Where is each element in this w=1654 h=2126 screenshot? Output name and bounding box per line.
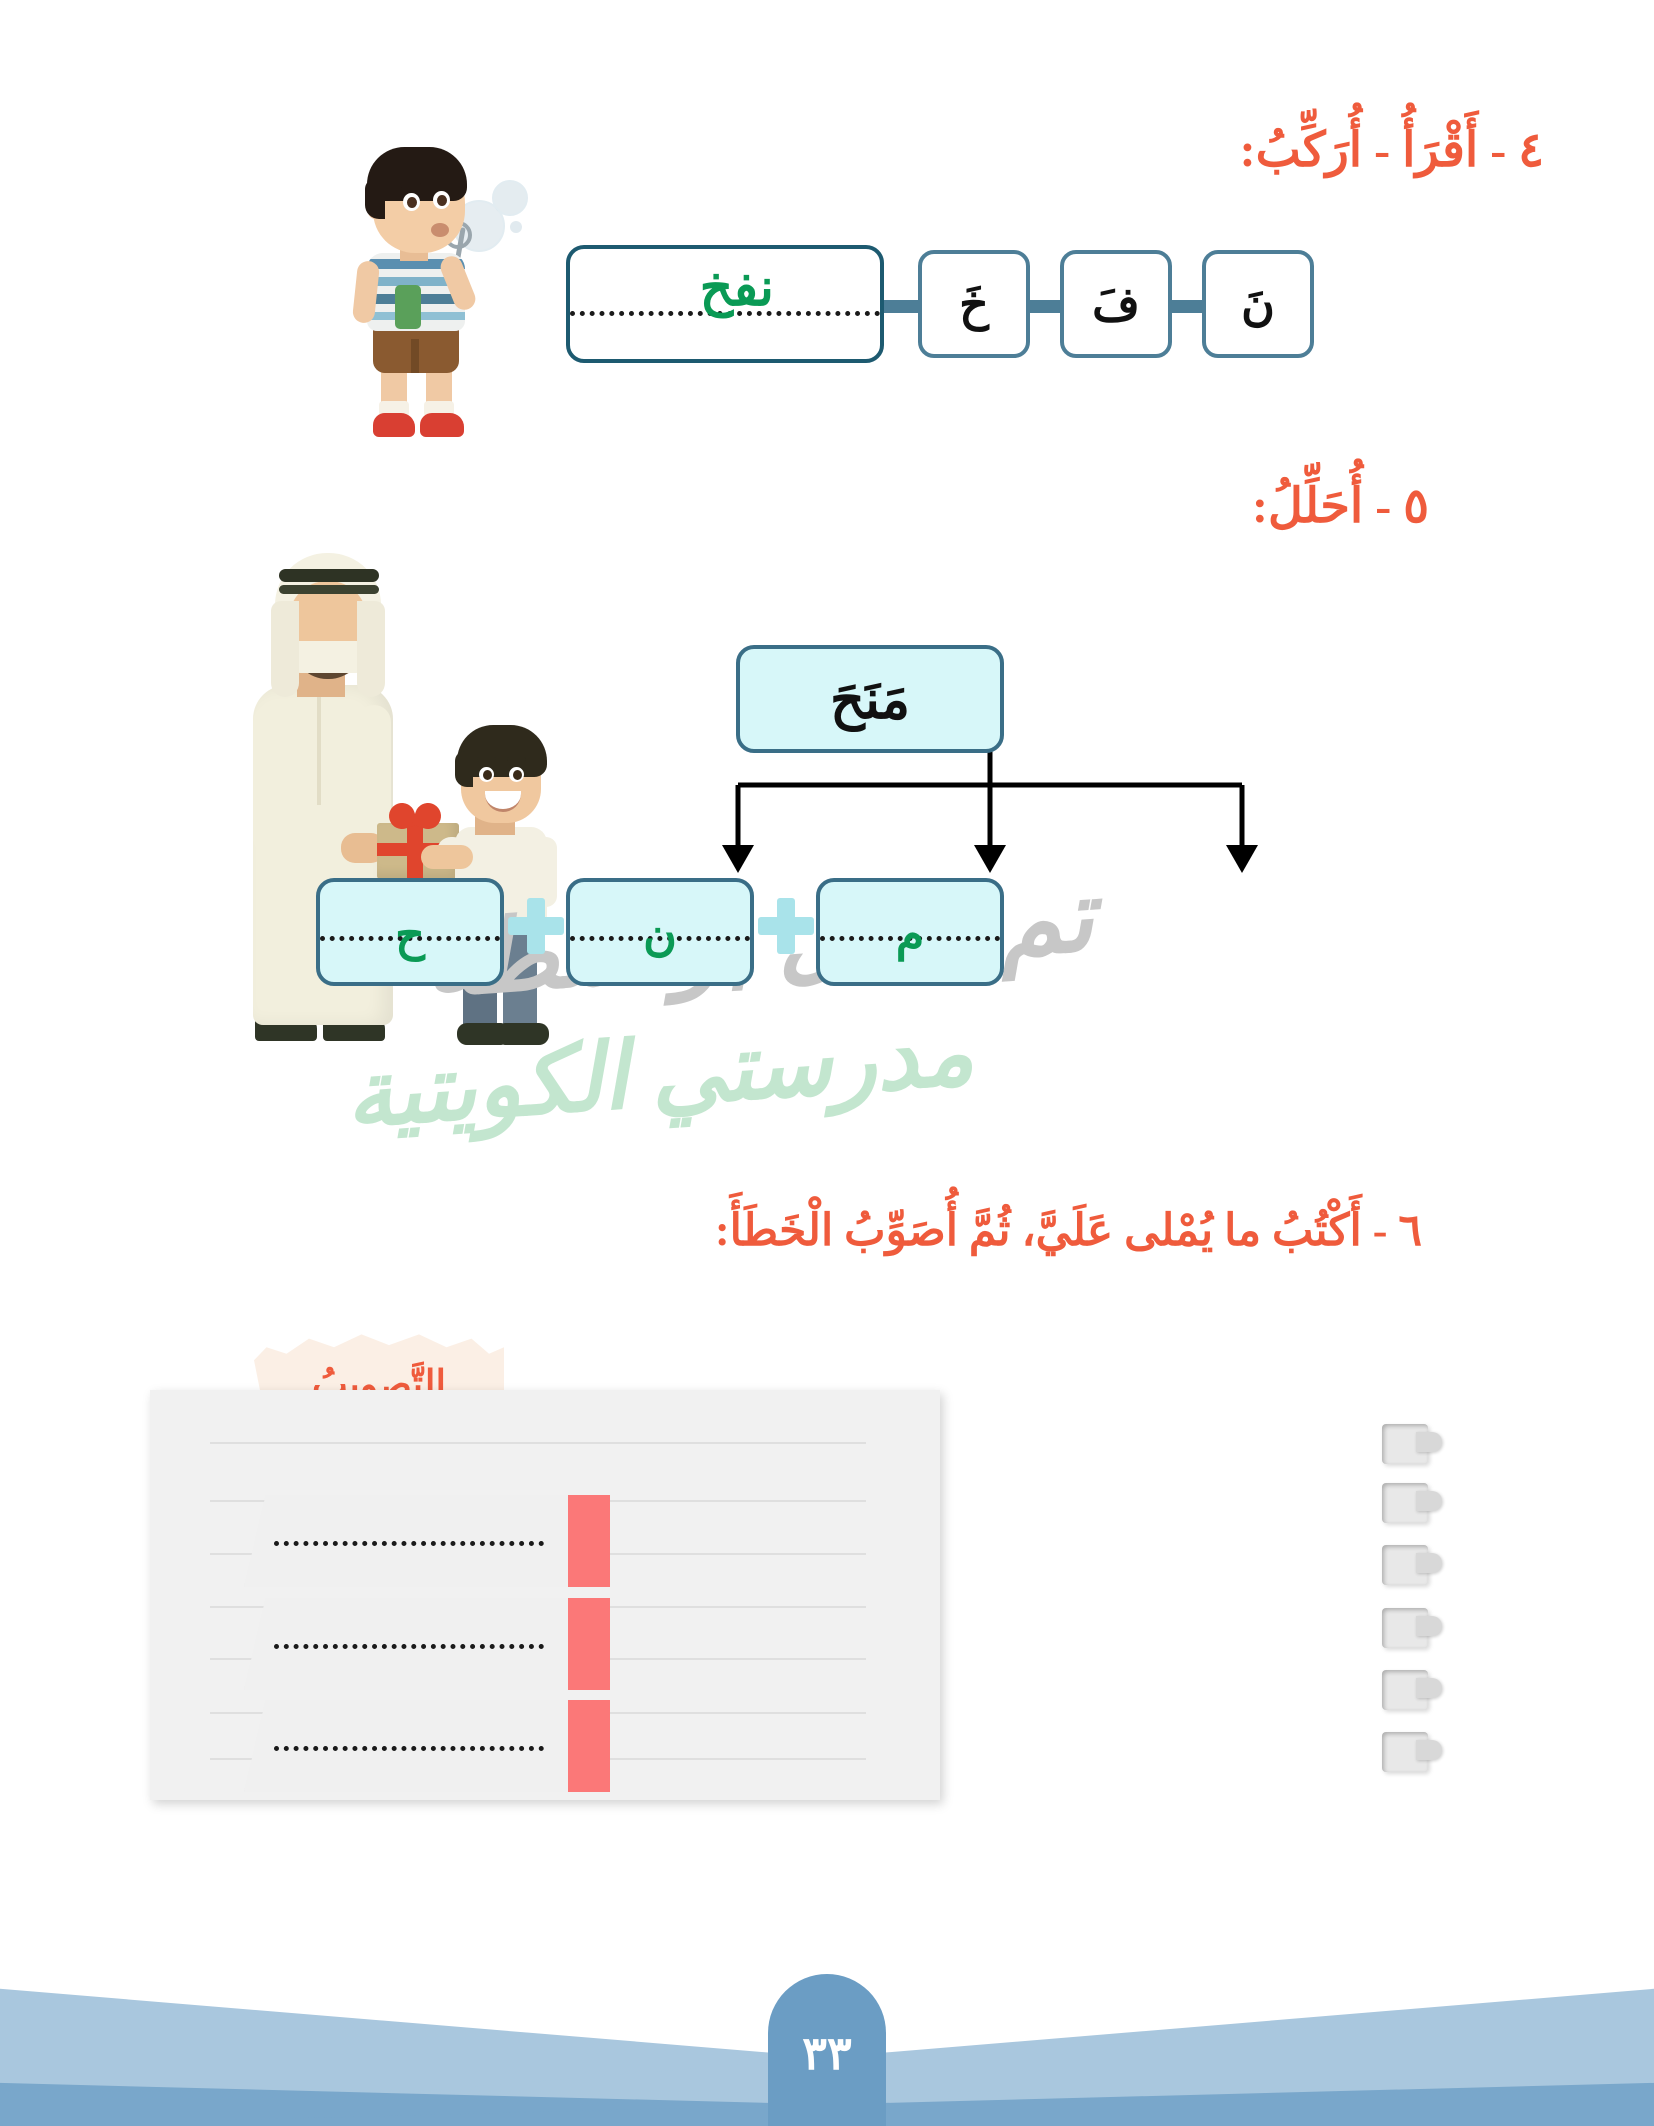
analysis-part-value-3: ح — [395, 907, 425, 961]
analysis-part-box-3[interactable]: ح — [316, 878, 504, 986]
analysis-part-box-1[interactable]: م — [816, 878, 1004, 986]
spiral-binding-hole — [1382, 1670, 1428, 1710]
correction-strip-dots — [274, 1746, 544, 1751]
exercise-6-heading: ٦ - أَكْتُبُ ما يُمْلى عَلَيَّ، ثُمَّ أُ… — [715, 1205, 1422, 1256]
correction-strip[interactable] — [244, 1700, 604, 1792]
spiral-binding-hole — [1382, 1483, 1428, 1523]
letter-box-1[interactable]: نَ — [1202, 250, 1314, 358]
exercise-4-answer-value: نفخ — [700, 258, 774, 318]
correction-strip-tab — [568, 1495, 610, 1587]
plus-operator-1 — [758, 898, 814, 954]
correction-strip-tab — [568, 1700, 610, 1792]
analysis-root-word-box[interactable]: مَنَحَ — [736, 645, 1004, 753]
spiral-binding-hole — [1382, 1424, 1428, 1464]
notepad-rule — [210, 1442, 866, 1444]
spiral-binding-hole — [1382, 1608, 1428, 1648]
exercise-5-heading: ٥ - أُحَلِّلُ: — [1252, 478, 1429, 534]
spiral-binding-hole — [1382, 1732, 1428, 1772]
correction-strip-dots — [274, 1541, 544, 1546]
analysis-part-box-2[interactable]: ن — [566, 878, 754, 986]
correction-strip[interactable] — [244, 1495, 604, 1587]
exercise-4-heading: ٤ - أَقْرَأُ - أُرَكِّبُ: — [1240, 122, 1544, 178]
analysis-part-value-1: م — [896, 907, 924, 961]
plus-operator-2 — [508, 898, 564, 954]
page-number-tab: ٣٣ — [768, 1974, 886, 2126]
analysis-tree-connectors — [680, 745, 1300, 885]
correction-strip-dots — [274, 1644, 544, 1649]
boy-blowing-bubbles-illustration — [325, 125, 535, 445]
letter-box-2[interactable]: فَ — [1060, 250, 1172, 358]
letter-box-3[interactable]: خَ — [918, 250, 1030, 358]
spiral-binding-hole — [1382, 1545, 1428, 1585]
correction-strip-tab — [568, 1598, 610, 1690]
workbook-page: تم الحل بواسطة مدرستي الكويتية ٤ - أَقْر… — [0, 0, 1654, 2126]
correction-strip[interactable] — [244, 1598, 604, 1690]
analysis-part-value-2: ن — [643, 907, 677, 961]
